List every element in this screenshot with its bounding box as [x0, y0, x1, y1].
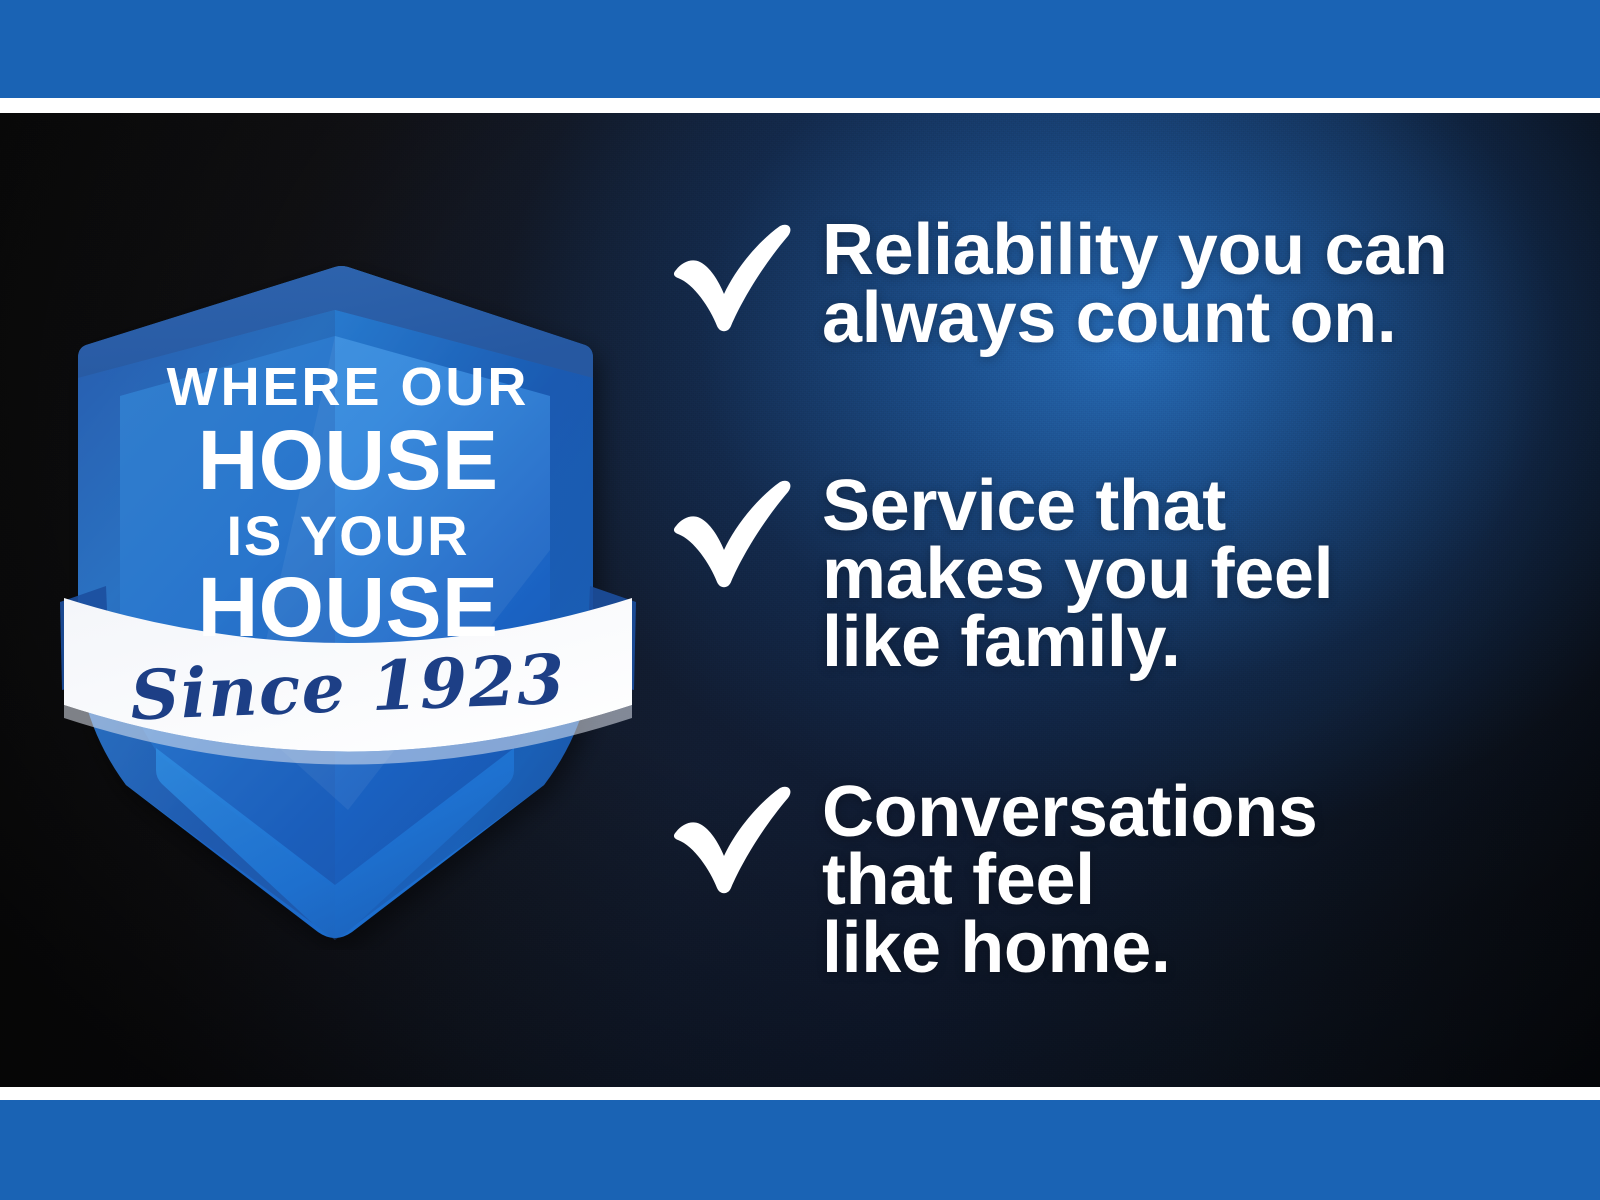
check-icon: [668, 478, 796, 590]
benefit-text-1: Reliability you can always count on.: [822, 216, 1447, 352]
benefit-item-3: Conversations that feel like home.: [668, 778, 1317, 982]
benefit-text-2: Service that makes you feel like family.: [822, 472, 1333, 676]
bottom-brand-bar: [0, 1100, 1600, 1200]
benefits-list: Reliability you can always count on. Ser…: [668, 120, 1568, 1060]
check-icon: [668, 222, 796, 334]
benefit-text-3: Conversations that feel like home.: [822, 778, 1317, 982]
shield-logo: WHERE OUR HOUSE IS YOUR HOUSE Since 1923: [48, 250, 648, 950]
benefit-item-2: Service that makes you feel like family.: [668, 472, 1333, 676]
promo-graphic: WHERE OUR HOUSE IS YOUR HOUSE Since 1923…: [0, 0, 1600, 1200]
top-brand-bar: [0, 0, 1600, 98]
benefit-item-1: Reliability you can always count on.: [668, 216, 1447, 352]
check-icon: [668, 784, 796, 896]
